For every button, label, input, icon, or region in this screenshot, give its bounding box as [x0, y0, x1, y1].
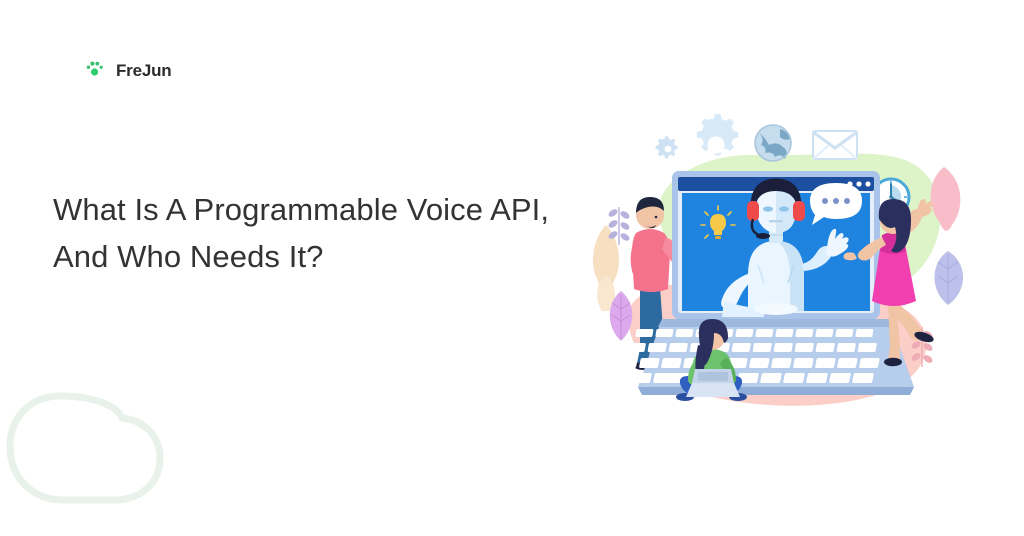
- headset-icon: [747, 201, 759, 221]
- brand-logo[interactable]: FreJun: [84, 58, 171, 82]
- laptop: [672, 171, 880, 319]
- leaf-purple-icon: [935, 251, 964, 305]
- titlebar-dot: [865, 181, 870, 186]
- globe-icon: [755, 125, 791, 161]
- envelope-icon: [813, 131, 857, 159]
- laptop-keyboard: [607, 319, 914, 395]
- brand-name: FreJun: [116, 62, 171, 79]
- gear-small-icon: [656, 136, 678, 158]
- page-title: What Is A Programmable Voice API, And Wh…: [53, 186, 573, 280]
- page-root: FreJun What Is A Programmable Voice API,…: [0, 0, 1024, 536]
- bubble-dot: [822, 198, 828, 204]
- cloud-outline-icon: [2, 382, 172, 527]
- paw-dots-icon: [84, 58, 108, 82]
- bubble-dot: [833, 198, 839, 204]
- bubble-dot: [844, 198, 850, 204]
- gear-large-icon: [697, 114, 738, 155]
- voice-ai-assistant-illustration: [588, 105, 998, 435]
- titlebar-dot: [856, 181, 861, 186]
